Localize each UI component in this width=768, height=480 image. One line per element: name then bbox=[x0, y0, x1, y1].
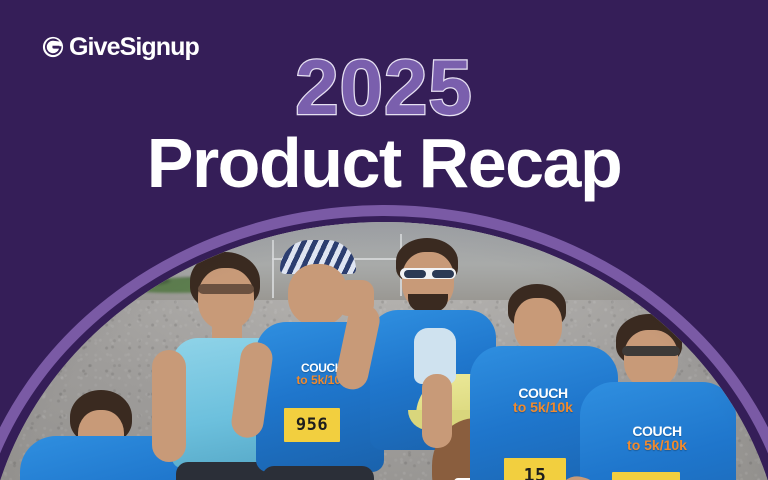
shirt-graphic: COUCH to 5k/10k bbox=[602, 424, 712, 453]
background-railing bbox=[56, 284, 144, 286]
race-bib: 445 bbox=[612, 472, 680, 480]
race-bib: 15 bbox=[504, 458, 566, 480]
race-bib: 956 bbox=[284, 408, 340, 442]
year-label: 2025 bbox=[0, 48, 768, 126]
page-title: Product Recap bbox=[0, 128, 768, 198]
hero-photo: COUCH to 5k/10k bbox=[0, 222, 768, 480]
background-railing bbox=[272, 240, 274, 298]
background-railing bbox=[56, 272, 58, 306]
product-recap-hero-card: GiveSignup COUCH to 5k/10k bbox=[0, 0, 768, 480]
race-participants-photo: COUCH to 5k/10k bbox=[0, 222, 768, 480]
